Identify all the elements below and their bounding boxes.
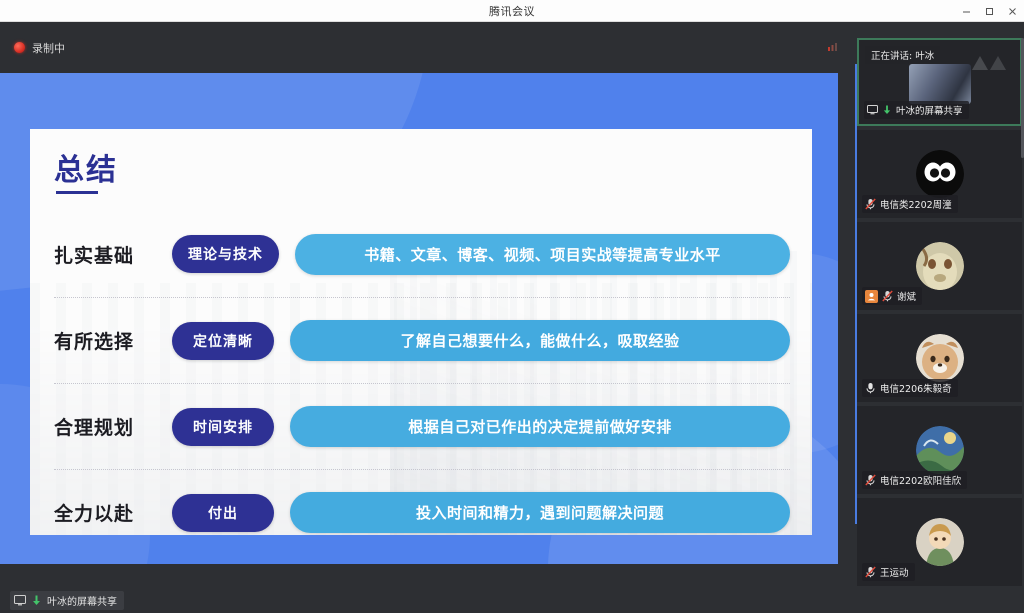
avatar xyxy=(916,518,964,566)
avatar xyxy=(916,426,964,474)
slide-row: 有所选择 定位清晰 了解自己想要什么，能做什么，吸取经验 xyxy=(54,297,790,383)
avatar xyxy=(916,150,964,198)
recording-indicator[interactable]: 录制中 xyxy=(14,40,65,56)
slide-row-tag: 时间安排 xyxy=(172,408,274,446)
meeting-topbar: 录制中 xyxy=(0,22,855,73)
shared-screen-stage[interactable]: 总结 扎实基础 理论与技术 书籍、文章、博客、视频、项目实战等提高专业水平 有所… xyxy=(0,73,855,597)
slide-rows: 扎实基础 理论与技术 书籍、文章、博客、视频、项目实战等提高专业水平 有所选择 … xyxy=(54,211,790,535)
screen-share-status-label: 叶冰的屏幕共享 xyxy=(47,593,117,608)
window-controls xyxy=(955,0,1024,22)
participant-name-chip: 谢斌 xyxy=(862,287,922,305)
screen-share-thumbnail xyxy=(909,64,971,104)
participant-name-chip: 王运动 xyxy=(862,563,915,581)
watermark-logo-icon xyxy=(970,52,1010,74)
close-button[interactable] xyxy=(1001,0,1024,22)
maximize-button[interactable] xyxy=(978,0,1001,22)
slide-row: 全力以赴 付出 投入时间和精力，遇到问题解决问题 xyxy=(54,469,790,535)
monitor-icon xyxy=(867,105,878,115)
slide-row-tag: 付出 xyxy=(172,494,274,532)
participant-name: 谢斌 xyxy=(897,289,916,303)
slide-title: 总结 xyxy=(54,145,118,189)
window-titlebar: 腾讯会议 xyxy=(0,0,1024,22)
mic-muted-icon xyxy=(865,198,876,210)
slide-row-detail: 投入时间和精力，遇到问题解决问题 xyxy=(290,492,790,533)
slide-row-label: 合理规划 xyxy=(54,413,172,440)
meeting-window-body: 录制中 总结 xyxy=(0,22,1024,613)
mic-muted-icon xyxy=(882,290,893,302)
avatar xyxy=(916,334,964,382)
participant-name: 电信2202欧阳佳欣 xyxy=(880,473,961,487)
participant-name: 电信2206朱毅奇 xyxy=(880,381,952,395)
slide-row-label: 全力以赴 xyxy=(54,499,172,526)
recording-label: 录制中 xyxy=(32,40,65,56)
participant-tile[interactable]: 谢斌 xyxy=(857,222,1022,310)
participant-tile[interactable]: 正在讲话: 叶冰 叶冰的屏幕共享 xyxy=(857,38,1022,126)
participants-rail[interactable]: 正在讲话: 叶冰 叶冰的屏幕共享 xyxy=(855,22,1024,613)
slide-row: 合理规划 时间安排 根据自己对已作出的决定提前做好安排 xyxy=(54,383,790,469)
record-dot-icon xyxy=(14,42,25,53)
download-arrow-icon xyxy=(882,105,892,116)
participant-name-chip: 电信2202欧阳佳欣 xyxy=(862,471,967,489)
mic-muted-icon xyxy=(865,474,876,486)
slide-row-detail: 根据自己对已作出的决定提前做好安排 xyxy=(290,406,790,447)
participant-tile[interactable]: 电信类2202周潼 xyxy=(857,130,1022,218)
slide-row-tag: 定位清晰 xyxy=(172,322,274,360)
participant-tile[interactable]: 电信2202欧阳佳欣 xyxy=(857,406,1022,494)
slide-row-label: 扎实基础 xyxy=(54,241,172,268)
slide-row: 扎实基础 理论与技术 书籍、文章、博客、视频、项目实战等提高专业水平 xyxy=(54,211,790,297)
participant-tile[interactable]: 电信2206朱毅奇 xyxy=(857,314,1022,402)
window-title: 腾讯会议 xyxy=(489,3,535,19)
slide-row-detail: 书籍、文章、博客、视频、项目实战等提高专业水平 xyxy=(295,234,790,275)
slide-row-detail: 了解自己想要什么，能做什么，吸取经验 xyxy=(290,320,790,361)
participant-tile[interactable]: 王运动 xyxy=(857,498,1022,586)
speaking-indicator-label: 正在讲话: 叶冰 xyxy=(865,46,940,64)
participant-name: 电信类2202周潼 xyxy=(880,197,952,211)
presentation-slide: 总结 扎实基础 理论与技术 书籍、文章、博客、视频、项目实战等提高专业水平 有所… xyxy=(0,73,838,564)
participant-name-chip: 电信类2202周潼 xyxy=(862,195,958,213)
participant-name: 王运动 xyxy=(880,565,909,579)
host-icon xyxy=(865,290,878,303)
meeting-statusbar: 叶冰的屏幕共享 xyxy=(0,588,855,613)
close-icon xyxy=(1007,6,1018,17)
mic-icon xyxy=(865,382,876,394)
participant-name-chip: 叶冰的屏幕共享 xyxy=(864,101,969,119)
slide-row-tag: 理论与技术 xyxy=(172,235,279,273)
participant-name: 叶冰的屏幕共享 xyxy=(896,103,963,117)
participant-name-chip: 电信2206朱毅奇 xyxy=(862,379,958,397)
maximize-icon xyxy=(984,6,995,17)
avatar xyxy=(916,242,964,290)
monitor-icon xyxy=(14,595,26,606)
minimize-button[interactable] xyxy=(955,0,978,22)
screen-share-status-chip[interactable]: 叶冰的屏幕共享 xyxy=(10,591,124,610)
slide-title-underline xyxy=(56,191,98,194)
download-arrow-icon xyxy=(31,595,42,607)
slide-row-label: 有所选择 xyxy=(54,327,172,354)
slide-content-card: 总结 扎实基础 理论与技术 书籍、文章、博客、视频、项目实战等提高专业水平 有所… xyxy=(30,129,812,535)
mic-muted-icon xyxy=(865,566,876,578)
minimize-icon xyxy=(961,6,972,17)
network-status-icon[interactable] xyxy=(825,40,841,56)
